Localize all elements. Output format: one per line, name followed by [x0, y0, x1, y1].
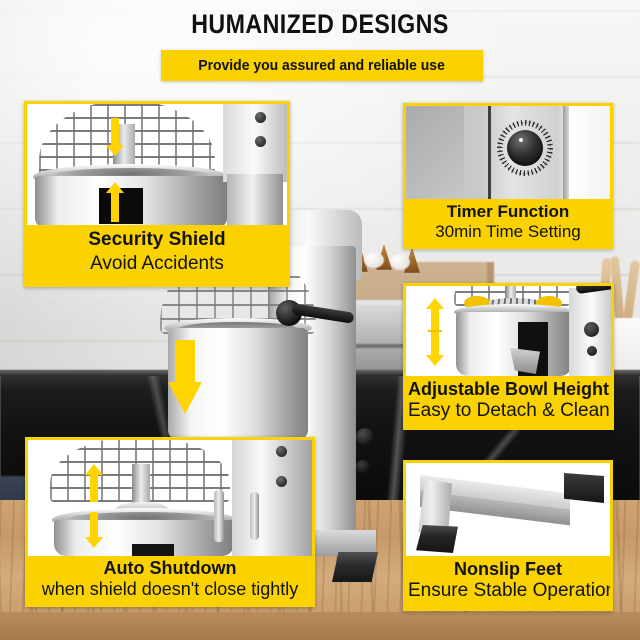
support-rod — [214, 490, 224, 542]
auto-shutdown-photo — [28, 440, 312, 556]
product-infographic: Security Shield Avoid Accidents Timer Fu… — [0, 0, 640, 640]
panel-left-plate — [406, 106, 464, 199]
arrow-up-icon — [426, 298, 444, 330]
housing-bolt — [276, 476, 287, 487]
feature-title: Security Shield — [29, 230, 285, 251]
photo-top-fade — [406, 463, 610, 473]
feature-title: Auto Shutdown — [30, 559, 310, 578]
timer-knob-indicator — [519, 138, 523, 142]
mixer-control-button — [356, 460, 370, 474]
arrow-divider — [428, 330, 442, 332]
panel-seam — [488, 106, 491, 199]
feature-card-nonslip-feet: Nonslip Feet Ensure Stable Operation — [403, 460, 613, 611]
feature-card-security-shield: Security Shield Avoid Accidents — [24, 101, 290, 287]
wooden-counter-edge — [0, 612, 640, 640]
feature-subtitle: Avoid Accidents — [29, 254, 285, 275]
subtitle-banner: Provide you assured and reliable use — [161, 50, 483, 81]
housing-bolt — [255, 112, 266, 123]
timer-panel-photo — [406, 106, 610, 199]
feature-title: Nonslip Feet — [408, 560, 608, 579]
feature-title: Adjustable Bowl Height — [408, 380, 609, 399]
mixer-body-side — [227, 174, 283, 225]
security-shield-caption: Security Shield Avoid Accidents — [27, 225, 287, 287]
mixer-control-button — [587, 346, 597, 356]
mixer-foot — [332, 552, 378, 582]
timer-knob[interactable] — [507, 130, 543, 166]
arrow-down-icon — [168, 340, 202, 414]
feature-card-timer-function: Timer Function 30min Time Setting — [403, 103, 613, 249]
arrow-up-icon — [85, 464, 103, 502]
mixer-control-knob — [356, 428, 374, 446]
feature-subtitle: Easy to Detach & Clean — [408, 401, 609, 422]
nonslip-feet-caption: Nonslip Feet Ensure Stable Operation — [406, 556, 610, 611]
feature-subtitle: when shield doesn't close tightly — [30, 580, 310, 599]
subtitle-text: Provide you assured and reliable use — [199, 57, 446, 74]
mixer-control-knob — [584, 322, 599, 337]
security-shield-photo — [27, 104, 287, 225]
arrow-up-icon — [106, 182, 124, 222]
housing-bolt — [276, 446, 287, 457]
housing-bolt — [255, 136, 266, 147]
timer-function-caption: Timer Function 30min Time Setting — [406, 199, 610, 249]
panel-white-area — [569, 106, 610, 199]
support-rod — [250, 492, 259, 540]
adjustable-bowl-photo — [406, 286, 611, 376]
background-egg-decor — [390, 254, 410, 270]
feature-card-auto-shutdown: Auto Shutdown when shield doesn't close … — [25, 437, 315, 607]
adjustable-bowl-caption: Adjustable Bowl Height Easy to Detach & … — [406, 376, 611, 430]
arrow-down-icon — [426, 332, 444, 366]
feature-subtitle: Ensure Stable Operation — [408, 581, 608, 602]
arrow-down-icon — [85, 512, 103, 548]
bowl-shadow-panel — [132, 544, 174, 556]
arrow-down-icon — [106, 118, 124, 156]
foot-far-pad — [564, 473, 604, 503]
feature-subtitle: 30min Time Setting — [408, 223, 608, 241]
page-title: HUMANIZED DESIGNS — [45, 9, 595, 40]
nonslip-feet-photo — [406, 463, 610, 556]
feature-card-adjustable-bowl-height: Adjustable Bowl Height Easy to Detach & … — [403, 283, 614, 430]
mixer-housing — [232, 440, 312, 556]
feature-title: Timer Function — [408, 203, 608, 221]
foot-icon — [416, 525, 458, 553]
auto-shutdown-caption: Auto Shutdown when shield doesn't close … — [28, 556, 312, 607]
